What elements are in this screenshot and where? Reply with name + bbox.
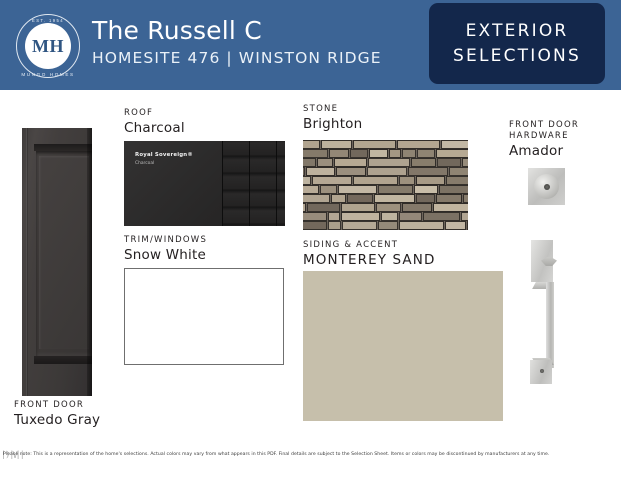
stone-unit (461, 212, 468, 221)
front-door-hardware-label: FRONT DOOR HARDWARE Amador (509, 120, 579, 159)
stone-unit (417, 149, 435, 158)
footer-disclaimer: Please note: This is a representation of… (3, 452, 618, 457)
stone-course (303, 167, 468, 176)
roof-brand-color: Charcoal (135, 161, 154, 166)
stone-unit (376, 203, 401, 212)
front-door-swatch (22, 128, 92, 396)
stone-unit (306, 167, 335, 176)
deadbolt-keyhole (544, 184, 550, 190)
stone-unit (408, 167, 448, 176)
stone-unit (445, 221, 466, 230)
stone-unit (402, 149, 416, 158)
stone-unit (416, 176, 445, 185)
stone-unit (433, 203, 468, 212)
logo-established-text: EST. 1954 (16, 18, 80, 23)
deadbolt-icon (528, 168, 565, 205)
stone-unit (342, 221, 377, 230)
siding-accent-category: SIDING & ACCENT (303, 240, 435, 251)
stone-unit (328, 212, 340, 221)
roof-category: ROOF (124, 108, 185, 119)
handleset-grip (546, 282, 554, 368)
siding-accent-label: SIDING & ACCENT MONTEREY SAND (303, 240, 435, 268)
badge-line-1: EXTERIOR (466, 19, 569, 44)
door-panel-inner (39, 156, 89, 349)
stone-unit (350, 149, 368, 158)
handleset-image (524, 240, 570, 384)
roof-swatch: Royal Sovereign® Charcoal (124, 141, 285, 226)
handleset-top-plate (531, 240, 553, 282)
stone-unit (353, 176, 398, 185)
stone-unit (312, 176, 352, 185)
handleset-screw (540, 369, 544, 373)
page-header: MH EST. 1954 MUNGO HOMES The Russell C H… (0, 0, 621, 90)
hardware-category-line1: FRONT DOOR (509, 120, 579, 131)
hardware-value: Amador (509, 143, 579, 159)
stone-unit (367, 167, 407, 176)
stone-unit (303, 149, 328, 158)
stone-unit (307, 203, 340, 212)
stone-unit (414, 185, 438, 194)
handleset-thumb-latch (541, 257, 557, 266)
stone-unit (303, 158, 316, 167)
stone-unit (374, 194, 415, 203)
stone-category: STONE (303, 104, 362, 115)
roof-value: Charcoal (124, 120, 185, 136)
stone-unit (303, 176, 311, 185)
stone-course (303, 221, 468, 230)
door-stile (26, 128, 28, 396)
deadbolt-knob (534, 174, 559, 199)
trim-windows-swatch (124, 268, 284, 365)
stone-unit (303, 203, 306, 212)
stone-unit (320, 185, 337, 194)
door-rail-top (34, 144, 92, 151)
stone-unit (389, 149, 401, 158)
logo-brand-text: MUNGO HOMES (16, 72, 80, 77)
stone-unit (329, 149, 349, 158)
siding-accent-swatch (303, 271, 503, 421)
stone-unit (449, 167, 468, 176)
stone-unit (381, 212, 398, 221)
stone-course (303, 185, 468, 194)
homesite-subtitle: HOMESITE 476 | WINSTON RIDGE (92, 49, 382, 67)
mungo-homes-logo: MH EST. 1954 MUNGO HOMES (16, 14, 82, 80)
stone-unit (423, 212, 460, 221)
stone-unit (399, 176, 415, 185)
stone-unit (378, 221, 398, 230)
stone-course (303, 158, 468, 167)
stone-unit (369, 149, 388, 158)
stone-course (303, 203, 468, 212)
roof-label: ROOF Charcoal (124, 108, 185, 136)
trim-windows-label: TRIM/WINDOWS Snow White (124, 235, 207, 263)
stone-unit (462, 158, 468, 167)
handleset-base-plate (530, 360, 552, 384)
stone-course (303, 140, 468, 149)
stone-unit (317, 158, 333, 167)
stone-unit (397, 140, 440, 149)
stone-unit (439, 185, 468, 194)
exterior-selections-badge: EXTERIOR SELECTIONS (429, 3, 605, 84)
stone-unit (399, 221, 444, 230)
stone-unit (416, 194, 435, 203)
stone-unit (463, 194, 468, 203)
stone-unit (321, 140, 352, 149)
front-door-value: Tuxedo Gray (14, 412, 100, 428)
stone-unit (467, 221, 468, 230)
stone-unit (446, 176, 468, 185)
stone-unit (399, 212, 422, 221)
stone-unit (378, 185, 413, 194)
siding-accent-value: MONTEREY SAND (303, 252, 435, 268)
stone-unit (303, 221, 327, 230)
stone-unit (353, 140, 396, 149)
title-block: The Russell C HOMESITE 476 | WINSTON RID… (92, 18, 382, 67)
roof-shingle-texture (222, 141, 285, 226)
stone-course (303, 194, 468, 203)
stone-swatch (303, 140, 468, 230)
roof-brand-name: Royal Sovereign® (135, 152, 193, 158)
page-title: The Russell C (92, 18, 382, 44)
stone-unit (303, 212, 327, 221)
stone-unit (328, 221, 341, 230)
door-panel (36, 151, 92, 356)
stone-unit (334, 158, 367, 167)
stone-unit (341, 203, 375, 212)
stone-unit (303, 140, 320, 149)
hardware-category-line2: HARDWARE (509, 131, 579, 142)
stone-course (303, 149, 468, 158)
door-edge-shadow (87, 128, 92, 396)
stone-course (303, 176, 468, 185)
stone-unit (441, 140, 468, 149)
stone-unit (303, 194, 330, 203)
stone-value: Brighton (303, 116, 362, 132)
stone-unit (303, 167, 305, 176)
trim-windows-category: TRIM/WINDOWS (124, 235, 207, 246)
stone-unit (331, 194, 346, 203)
stone-label: STONE Brighton (303, 104, 362, 132)
stone-unit (411, 158, 436, 167)
stone-unit (341, 212, 380, 221)
stone-unit (336, 167, 366, 176)
front-door-label: FRONT DOOR Tuxedo Gray (14, 400, 100, 428)
stone-unit (437, 158, 461, 167)
stone-unit (303, 185, 319, 194)
stone-unit (347, 194, 373, 203)
door-rail-bottom (34, 356, 92, 364)
badge-line-2: SELECTIONS (453, 44, 581, 69)
trim-windows-value: Snow White (124, 247, 207, 263)
stone-unit (436, 194, 462, 203)
stone-unit (338, 185, 377, 194)
stone-unit (436, 149, 468, 158)
stone-course (303, 212, 468, 221)
stone-unit (368, 158, 410, 167)
stone-unit (402, 203, 432, 212)
logo-monogram: MH (25, 23, 71, 69)
front-door-category: FRONT DOOR (14, 400, 100, 411)
